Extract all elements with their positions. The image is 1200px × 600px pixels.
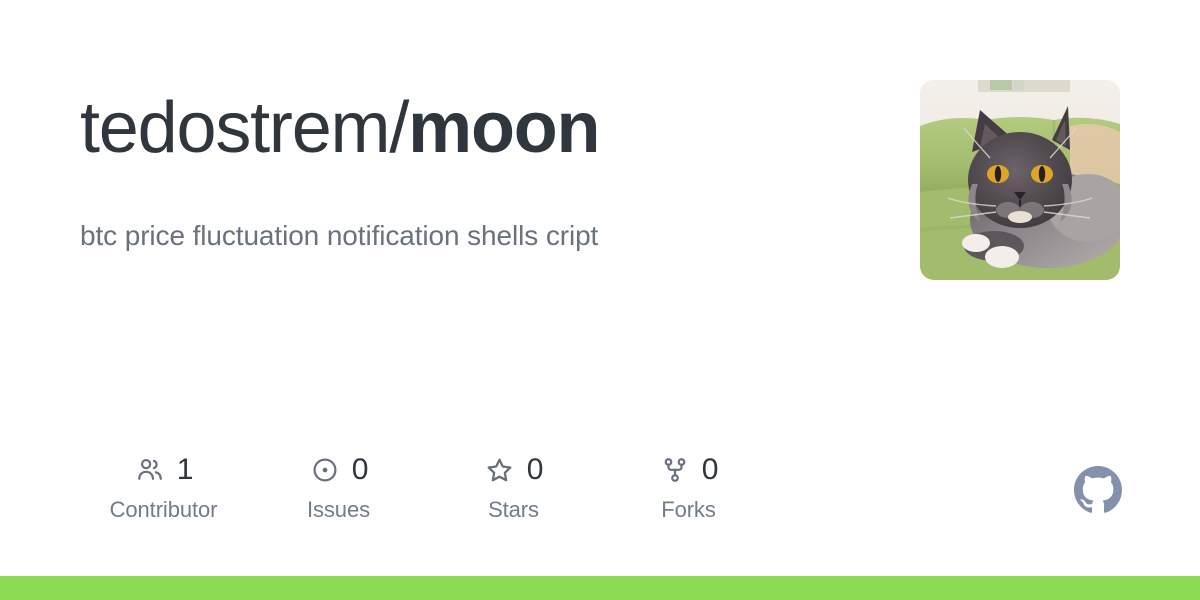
people-icon xyxy=(134,454,166,486)
stat-value: 0 xyxy=(527,455,544,485)
repo-name[interactable]: moon xyxy=(408,88,599,168)
stat-value: 1 xyxy=(177,455,194,485)
cat-photo-avatar xyxy=(920,80,1120,280)
stat-issues[interactable]: 0 Issues xyxy=(251,452,426,523)
issue-opened-icon xyxy=(309,454,341,486)
stat-top: 1 xyxy=(134,452,194,488)
repo-stats: 1 Contributor 0 Issues xyxy=(76,452,776,523)
stat-top: 0 xyxy=(659,452,719,488)
stat-label: Forks xyxy=(661,497,716,523)
repository-social-card: tedostrem/moon btc price fluctuation not… xyxy=(0,0,1200,600)
stat-top: 0 xyxy=(309,452,369,488)
github-mark-icon xyxy=(1074,466,1122,514)
stat-top: 0 xyxy=(484,452,544,488)
stat-contributors[interactable]: 1 Contributor xyxy=(76,452,251,523)
repo-forked-icon xyxy=(659,454,691,486)
stat-stars[interactable]: 0 Stars xyxy=(426,452,601,523)
repo-owner[interactable]: tedostrem xyxy=(80,88,389,168)
stat-label: Issues xyxy=(307,497,370,523)
stat-label: Contributor xyxy=(110,497,218,523)
stat-forks[interactable]: 0 Forks xyxy=(601,452,776,523)
stat-value: 0 xyxy=(702,455,719,485)
repo-separator: / xyxy=(389,88,408,168)
stat-value: 0 xyxy=(352,455,369,485)
stat-label: Stars xyxy=(488,497,539,523)
repo-description: btc price fluctuation notification shell… xyxy=(80,218,598,254)
page-title: tedostrem/moon xyxy=(80,92,599,165)
accent-bar xyxy=(0,576,1200,600)
avatar xyxy=(920,80,1120,280)
star-icon xyxy=(484,454,516,486)
